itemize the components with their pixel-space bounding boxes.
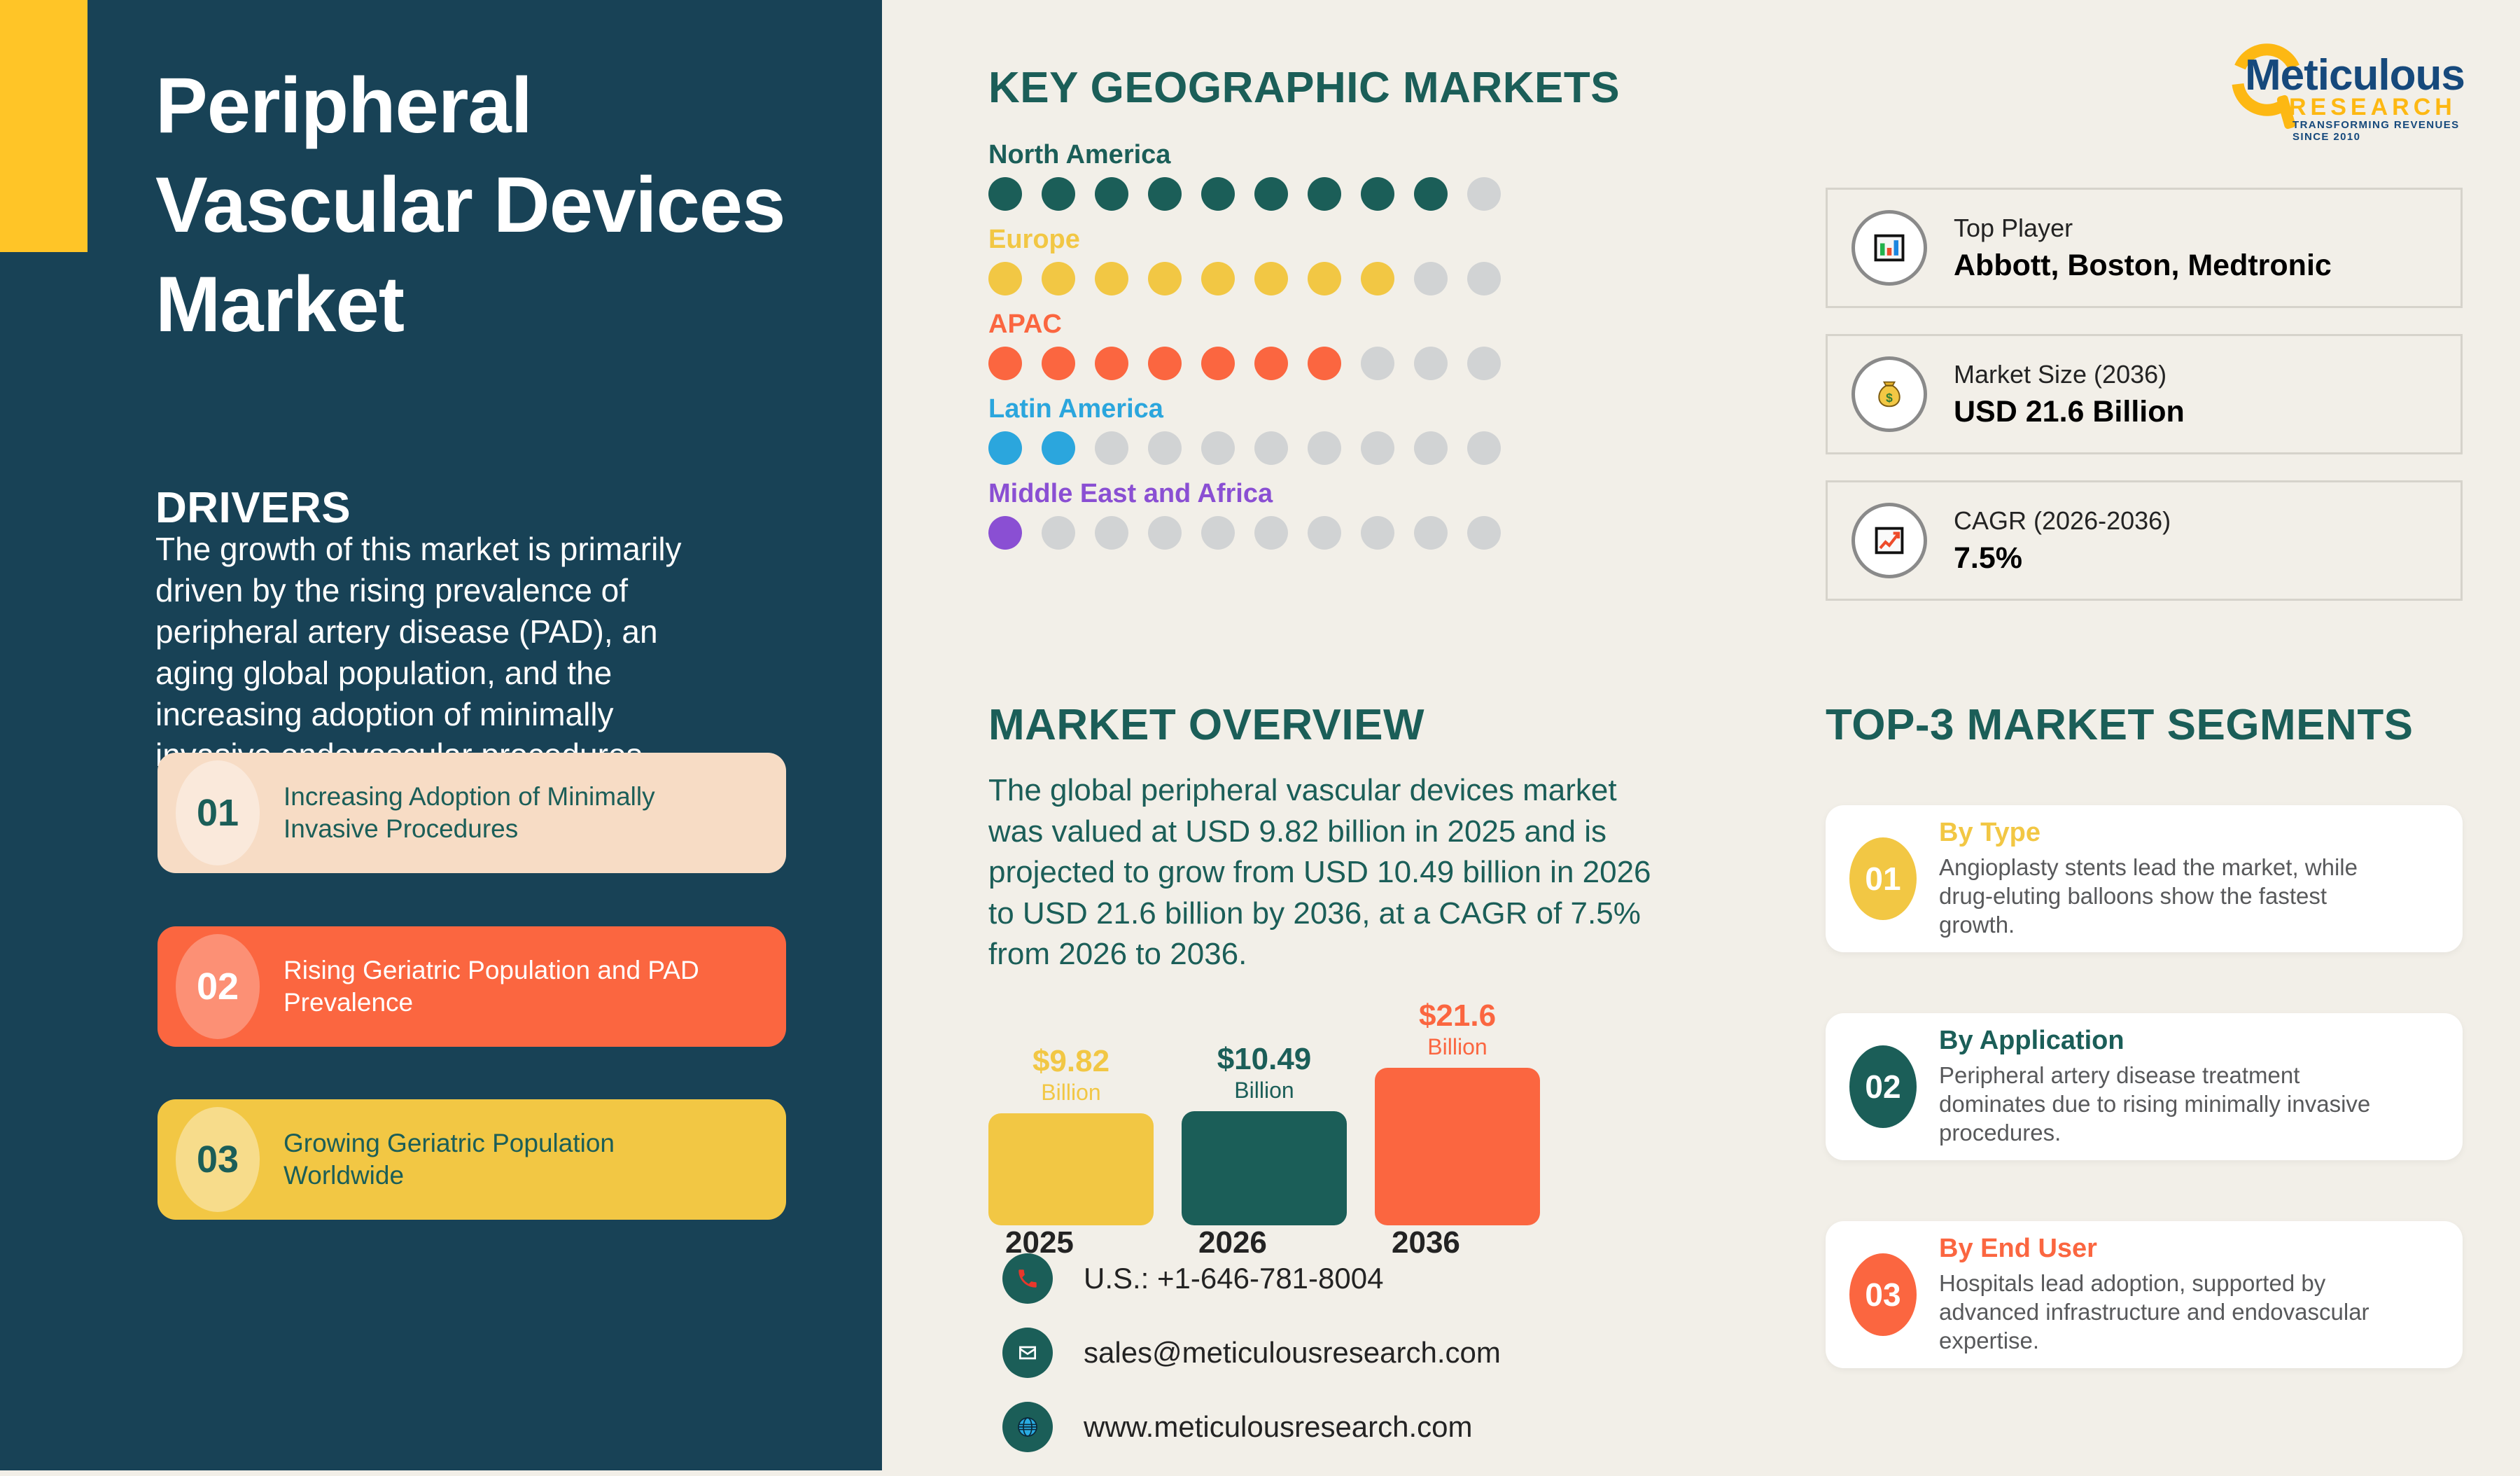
geo-dot-filled bbox=[988, 516, 1022, 550]
geo-region-row: Latin America bbox=[988, 394, 1501, 465]
geo-dot-empty bbox=[1148, 516, 1182, 550]
segment-title: By Type bbox=[1939, 818, 2387, 848]
geo-dot-empty bbox=[1308, 431, 1341, 465]
bar-unit: Billion bbox=[1217, 1079, 1312, 1101]
drivers-description: The growth of this market is primarily d… bbox=[155, 529, 736, 776]
bar-unit: Billion bbox=[1419, 1036, 1496, 1058]
contact-phone-row[interactable]: U.S.: +1-646-781-8004 bbox=[1002, 1253, 1501, 1304]
geo-dot-empty bbox=[1254, 516, 1288, 550]
geo-dot-empty bbox=[1095, 516, 1128, 550]
contact-block: U.S.: +1-646-781-8004 sales@meticulousre… bbox=[1002, 1253, 1501, 1476]
geo-region-label: Latin America bbox=[988, 394, 1501, 424]
website-url: www.meticulousresearch.com bbox=[1084, 1410, 1473, 1444]
segment-description: Hospitals lead adoption, supported by ad… bbox=[1939, 1269, 2387, 1356]
geo-dot-empty bbox=[1361, 516, 1394, 550]
geo-region-label: North America bbox=[988, 140, 1501, 170]
geo-dot-empty bbox=[1201, 516, 1235, 550]
bar-value-label: $10.49Billion bbox=[1217, 1044, 1312, 1101]
geo-dot-filled bbox=[1308, 177, 1341, 211]
logo-subtitle: RESEARCH bbox=[2289, 94, 2456, 121]
chart-bar bbox=[1375, 1068, 1540, 1225]
bar-value: $21.6 bbox=[1419, 1001, 1496, 1031]
geo-region-row: APAC bbox=[988, 309, 1501, 380]
yellow-accent-bar bbox=[0, 0, 87, 252]
market-size-bar-chart: $9.82Billion$10.49Billion$21.6Billion 20… bbox=[988, 980, 1548, 1260]
geo-region-label: Europe bbox=[988, 225, 1501, 255]
contact-website-row[interactable]: www.meticulousresearch.com bbox=[1002, 1402, 1501, 1452]
drivers-heading: DRIVERS bbox=[155, 483, 351, 533]
stat-card-market-size: $ Market Size (2036) USD 21.6 Billion bbox=[1826, 334, 2463, 454]
driver-number-badge: 03 bbox=[176, 1107, 260, 1212]
chart-bar-column: $10.49Billion bbox=[1182, 1044, 1347, 1225]
driver-label: Growing Geriatric Population Worldwide bbox=[283, 1127, 703, 1192]
geo-dot-scale bbox=[988, 347, 1501, 380]
geo-dot-filled bbox=[988, 177, 1022, 211]
geo-dot-filled bbox=[1361, 262, 1394, 295]
geo-region-row: Middle East and Africa bbox=[988, 479, 1501, 550]
segment-card-by-end-user[interactable]: 03 By End User Hospitals lead adoption, … bbox=[1826, 1221, 2463, 1368]
geographic-markets-list: North AmericaEuropeAPACLatin AmericaMidd… bbox=[988, 140, 1501, 564]
phone-number: U.S.: +1-646-781-8004 bbox=[1084, 1262, 1383, 1295]
driver-number-badge: 01 bbox=[176, 760, 260, 865]
geo-dot-filled bbox=[1042, 347, 1075, 380]
stat-card-top-player: Top Player Abbott, Boston, Medtronic bbox=[1826, 188, 2463, 308]
geo-dot-empty bbox=[1201, 431, 1235, 465]
driver-label: Rising Geriatric Population and PAD Prev… bbox=[283, 954, 703, 1019]
geo-dot-empty bbox=[1414, 516, 1448, 550]
chart-bar bbox=[988, 1113, 1154, 1225]
geo-dot-empty bbox=[1467, 262, 1501, 295]
geo-dot-filled bbox=[988, 347, 1022, 380]
geo-dot-filled bbox=[1148, 347, 1182, 380]
geo-dot-empty bbox=[1095, 431, 1128, 465]
driver-card-3[interactable]: 03 Growing Geriatric Population Worldwid… bbox=[157, 1099, 786, 1220]
geo-region-label: APAC bbox=[988, 309, 1501, 340]
driver-label: Increasing Adoption of Minimally Invasiv… bbox=[283, 781, 703, 845]
market-segments-heading: TOP-3 MARKET SEGMENTS bbox=[1826, 700, 2414, 750]
segment-card-by-application[interactable]: 02 By Application Peripheral artery dise… bbox=[1826, 1013, 2463, 1160]
bar-value: $10.49 bbox=[1217, 1044, 1312, 1075]
geo-dot-filled bbox=[1254, 347, 1288, 380]
geo-dot-filled bbox=[1308, 262, 1341, 295]
geo-dot-filled bbox=[988, 262, 1022, 295]
geo-dot-filled bbox=[1148, 177, 1182, 211]
geo-dot-empty bbox=[1467, 177, 1501, 211]
money-bag-icon: $ bbox=[1851, 356, 1927, 432]
geo-dot-scale bbox=[988, 262, 1501, 295]
stat-label: Top Player bbox=[1954, 214, 2332, 243]
logo-tagline: TRANSFORMING REVENUES SINCE 2010 bbox=[2292, 119, 2474, 143]
stat-value: 7.5% bbox=[1954, 541, 2171, 576]
segment-number-badge: 01 bbox=[1849, 837, 1917, 920]
bar-unit: Billion bbox=[1032, 1081, 1109, 1103]
chart-bar-column: $21.6Billion bbox=[1375, 1001, 1540, 1225]
stat-value: USD 21.6 Billion bbox=[1954, 395, 2185, 429]
segment-description: Angioplasty stents lead the market, whil… bbox=[1939, 854, 2387, 940]
geo-dot-filled bbox=[988, 431, 1022, 465]
geo-dot-empty bbox=[1308, 516, 1341, 550]
segment-title: By End User bbox=[1939, 1234, 2387, 1264]
geo-dot-filled bbox=[1095, 177, 1128, 211]
bar-chart-icon bbox=[1851, 210, 1927, 286]
geo-dot-filled bbox=[1095, 262, 1128, 295]
chart-bar-column: $9.82Billion bbox=[988, 1046, 1154, 1225]
segment-number-badge: 02 bbox=[1849, 1045, 1917, 1128]
geo-dot-filled bbox=[1201, 347, 1235, 380]
meticulous-research-logo: Meticulous RESEARCH TRANSFORMING REVENUE… bbox=[2215, 41, 2474, 132]
geo-dot-empty bbox=[1467, 431, 1501, 465]
geo-dot-empty bbox=[1414, 347, 1448, 380]
stat-value: Abbott, Boston, Medtronic bbox=[1954, 249, 2332, 283]
logo-name: Meticulous bbox=[2245, 50, 2465, 100]
left-panel: Peripheral Vascular Devices Market DRIVE… bbox=[0, 0, 882, 1470]
geographic-markets-heading: KEY GEOGRAPHIC MARKETS bbox=[988, 63, 1620, 113]
market-overview-text: The global peripheral vascular devices m… bbox=[988, 770, 1660, 975]
geo-dot-filled bbox=[1361, 177, 1394, 211]
geo-dot-filled bbox=[1042, 431, 1075, 465]
stat-card-cagr: CAGR (2026-2036) 7.5% bbox=[1826, 480, 2463, 601]
stat-label: Market Size (2036) bbox=[1954, 360, 2185, 389]
geo-dot-scale bbox=[988, 177, 1501, 211]
bar-value-label: $21.6Billion bbox=[1419, 1001, 1496, 1058]
bar-value-label: $9.82Billion bbox=[1032, 1046, 1109, 1103]
geo-dot-scale bbox=[988, 516, 1501, 550]
geo-dot-empty bbox=[1467, 516, 1501, 550]
chart-bar bbox=[1182, 1111, 1347, 1225]
geo-dot-empty bbox=[1042, 516, 1075, 550]
geo-region-row: Europe bbox=[988, 225, 1501, 295]
geo-dot-filled bbox=[1042, 262, 1075, 295]
geo-region-row: North America bbox=[988, 140, 1501, 211]
driver-number-badge: 02 bbox=[176, 934, 260, 1039]
svg-text:$: $ bbox=[1886, 391, 1893, 405]
geo-dot-empty bbox=[1361, 431, 1394, 465]
geo-dot-filled bbox=[1414, 177, 1448, 211]
geo-dot-empty bbox=[1414, 262, 1448, 295]
segment-description: Peripheral artery disease treatment domi… bbox=[1939, 1061, 2387, 1148]
trend-up-icon bbox=[1851, 503, 1927, 578]
geo-dot-filled bbox=[1308, 347, 1341, 380]
geo-dot-empty bbox=[1148, 431, 1182, 465]
geo-region-label: Middle East and Africa bbox=[988, 479, 1501, 509]
contact-email-row[interactable]: sales@meticulousresearch.com bbox=[1002, 1328, 1501, 1378]
page-title: Peripheral Vascular Devices Market bbox=[155, 56, 785, 355]
globe-icon bbox=[1002, 1402, 1053, 1452]
geo-dot-empty bbox=[1254, 431, 1288, 465]
segment-title: By Application bbox=[1939, 1026, 2387, 1056]
driver-card-2[interactable]: 02 Rising Geriatric Population and PAD P… bbox=[157, 926, 786, 1047]
driver-card-1[interactable]: 01 Increasing Adoption of Minimally Inva… bbox=[157, 753, 786, 873]
geo-dot-filled bbox=[1254, 177, 1288, 211]
geo-dot-filled bbox=[1148, 262, 1182, 295]
geo-dot-scale bbox=[988, 431, 1501, 465]
geo-dot-empty bbox=[1361, 347, 1394, 380]
market-overview-heading: MARKET OVERVIEW bbox=[988, 700, 1424, 750]
email-address: sales@meticulousresearch.com bbox=[1084, 1336, 1501, 1370]
geo-dot-empty bbox=[1414, 431, 1448, 465]
phone-icon bbox=[1002, 1253, 1053, 1304]
geo-dot-filled bbox=[1042, 177, 1075, 211]
bar-value: $9.82 bbox=[1032, 1046, 1109, 1077]
geo-dot-filled bbox=[1201, 262, 1235, 295]
geo-dot-filled bbox=[1095, 347, 1128, 380]
envelope-icon bbox=[1002, 1328, 1053, 1378]
stat-label: CAGR (2026-2036) bbox=[1954, 506, 2171, 536]
geo-dot-empty bbox=[1467, 347, 1501, 380]
segment-number-badge: 03 bbox=[1849, 1253, 1917, 1336]
geo-dot-filled bbox=[1254, 262, 1288, 295]
geo-dot-filled bbox=[1201, 177, 1235, 211]
segment-card-by-type[interactable]: 01 By Type Angioplasty stents lead the m… bbox=[1826, 805, 2463, 952]
